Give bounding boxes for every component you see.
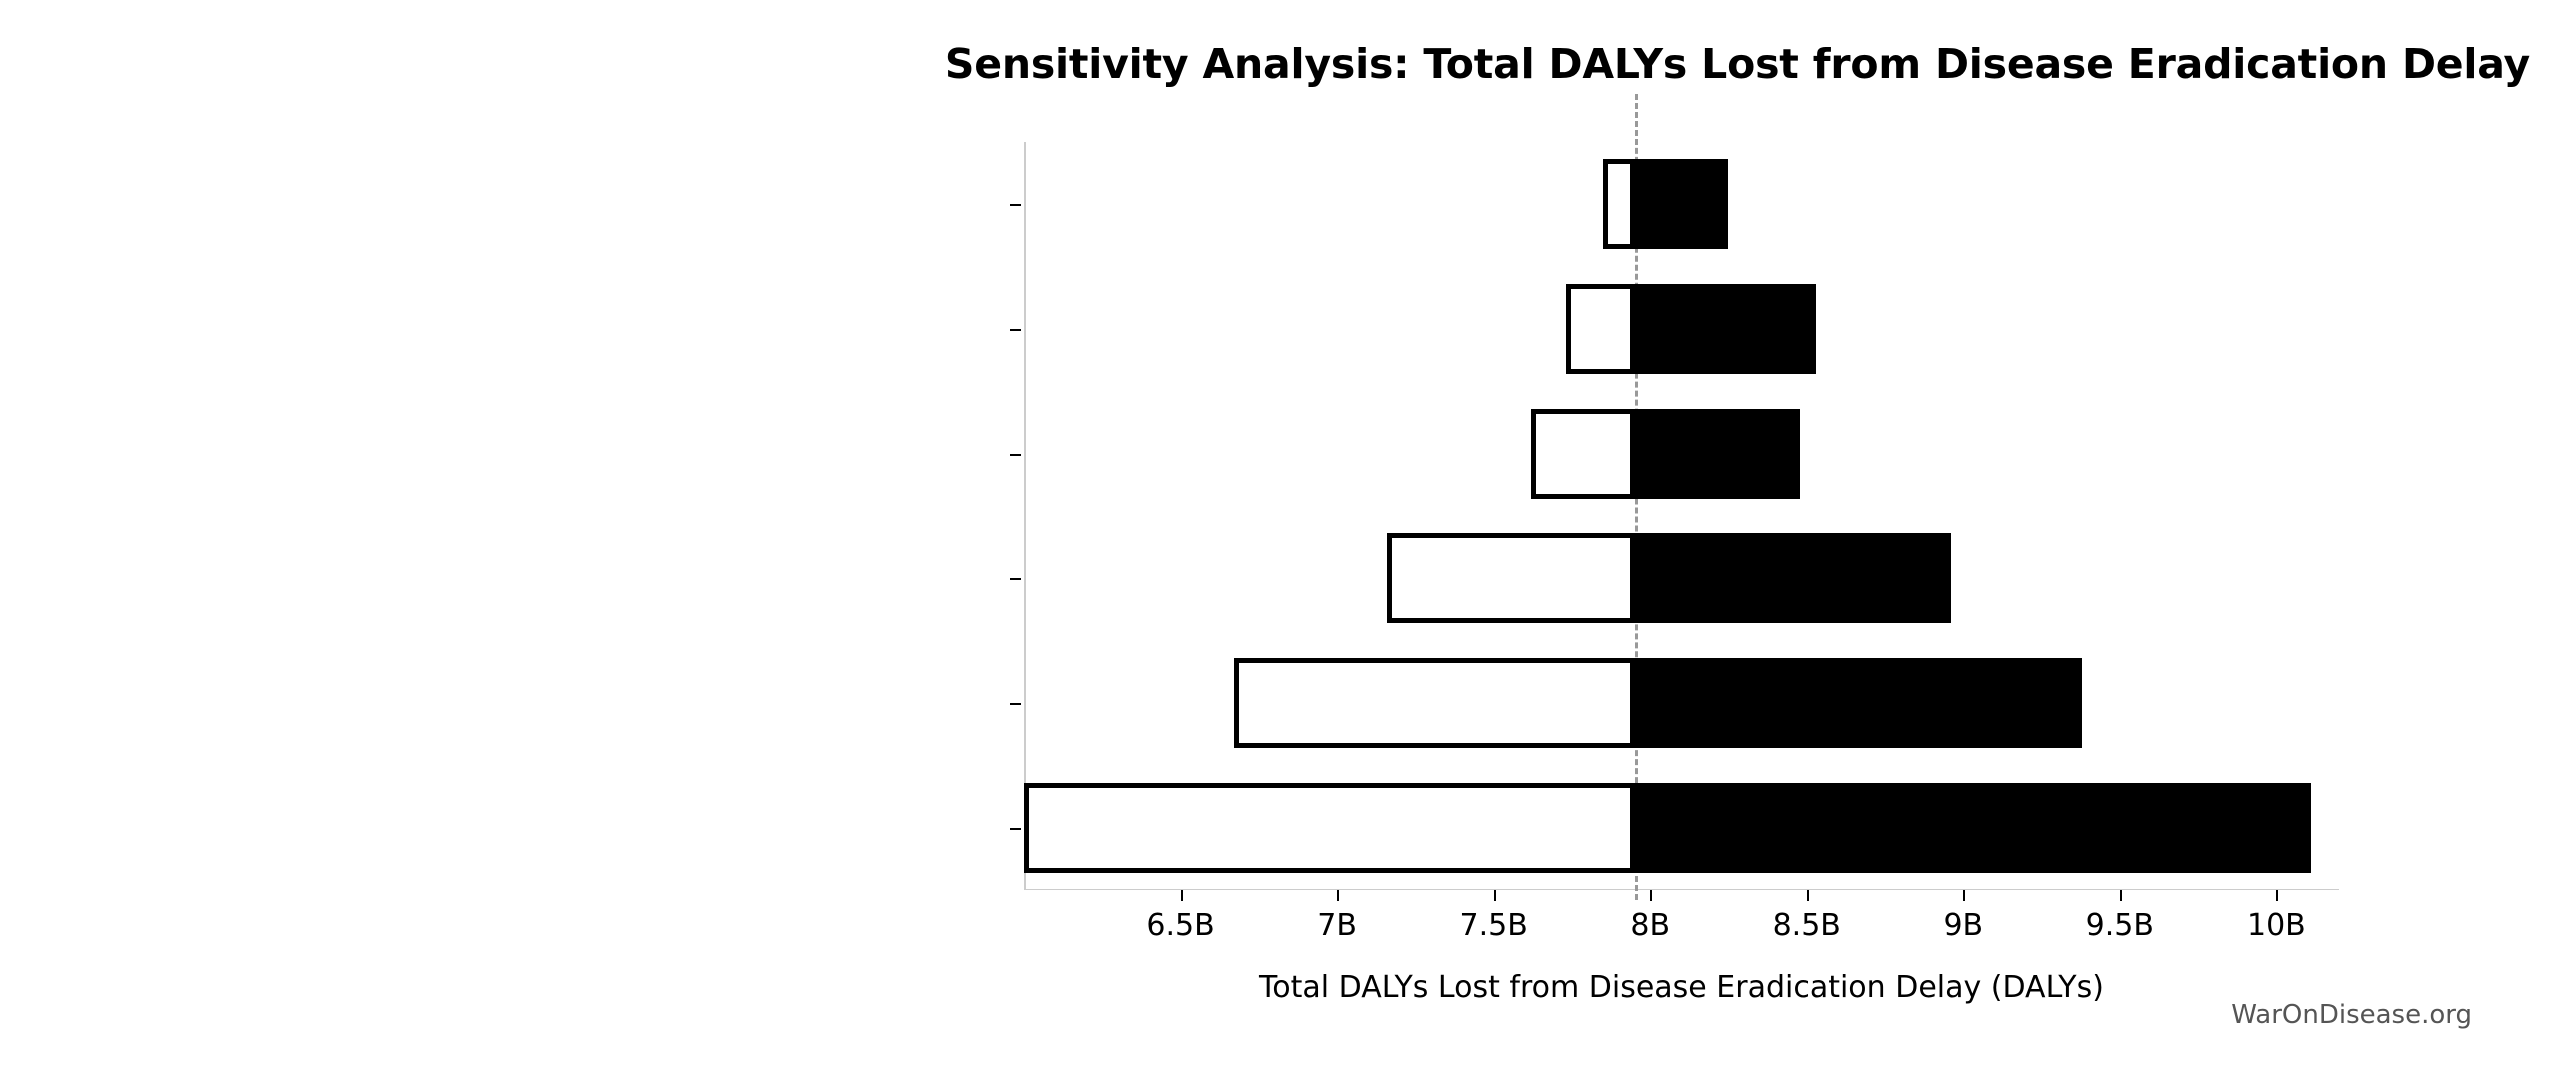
bar-segment-low	[1531, 409, 1634, 499]
x-axis-tick-mark	[2276, 890, 2278, 901]
x-axis-tick-mark	[1494, 890, 1496, 901]
y-axis-tick-mark	[1010, 204, 1021, 206]
bar-segment-high	[1635, 658, 2083, 748]
x-axis-tick-mark	[1650, 890, 1652, 901]
bar-segment-high	[1635, 409, 1801, 499]
bar-segment-low	[1234, 658, 1635, 748]
x-axis-tick-mark	[2120, 890, 2122, 901]
bar-segment-high	[1635, 159, 1729, 249]
watermark: WarOnDisease.org	[2231, 1000, 2472, 1030]
x-axis-tick-label: 8.5B	[1773, 908, 1841, 943]
bar-segment-low	[1024, 783, 1635, 873]
tornado-bar-row	[1024, 658, 2339, 748]
y-axis-tick-mark	[1010, 703, 1021, 705]
bar-segment-low	[1603, 159, 1634, 249]
tornado-bar-row	[1024, 783, 2339, 873]
y-axis-tick-mark	[1010, 454, 1021, 456]
y-axis-tick-mark	[1010, 578, 1021, 580]
y-axis-tick-mark	[1010, 329, 1021, 331]
x-axis-tick-mark	[1337, 890, 1339, 901]
chart-title: Sensitivity Analysis: Total DALYs Lost f…	[0, 40, 2530, 88]
bar-segment-low	[1387, 533, 1634, 623]
chart-figure: Sensitivity Analysis: Total DALYs Lost f…	[0, 0, 2550, 1075]
plot-background	[1024, 142, 2339, 890]
x-axis-tick-label: 9B	[1943, 908, 1983, 943]
y-axis-tick-mark	[1010, 828, 1021, 830]
axis-spine-left	[1024, 142, 1026, 890]
tornado-bar-row	[1024, 409, 2339, 499]
x-axis-tick-label: 9.5B	[2086, 908, 2154, 943]
x-axis-tick-label: 6.5B	[1146, 908, 1214, 943]
x-axis-tick-mark	[1181, 890, 1183, 901]
bar-segment-high	[1635, 284, 1817, 374]
x-axis-tick-mark	[1963, 890, 1965, 901]
bar-segment-high	[1635, 783, 2311, 873]
x-axis-tick-label: 8B	[1630, 908, 1670, 943]
x-axis-tick-label: 7B	[1317, 908, 1357, 943]
bar-segment-low	[1566, 284, 1635, 374]
x-axis-tick-mark	[1807, 890, 1809, 901]
plot-area: 6.5B7B7.5B8B8.5B9B9.5B10B	[1024, 142, 2339, 890]
x-axis-tick-label: 7.5B	[1459, 908, 1527, 943]
axis-spine-bottom	[1024, 889, 2339, 891]
tornado-bar-row	[1024, 284, 2339, 374]
x-axis-tick-label: 10B	[2247, 908, 2306, 943]
bar-segment-high	[1635, 533, 1951, 623]
tornado-bar-row	[1024, 159, 2339, 249]
x-axis-title: Total DALYs Lost from Disease Eradicatio…	[1024, 970, 2339, 1005]
tornado-bar-row	[1024, 533, 2339, 623]
